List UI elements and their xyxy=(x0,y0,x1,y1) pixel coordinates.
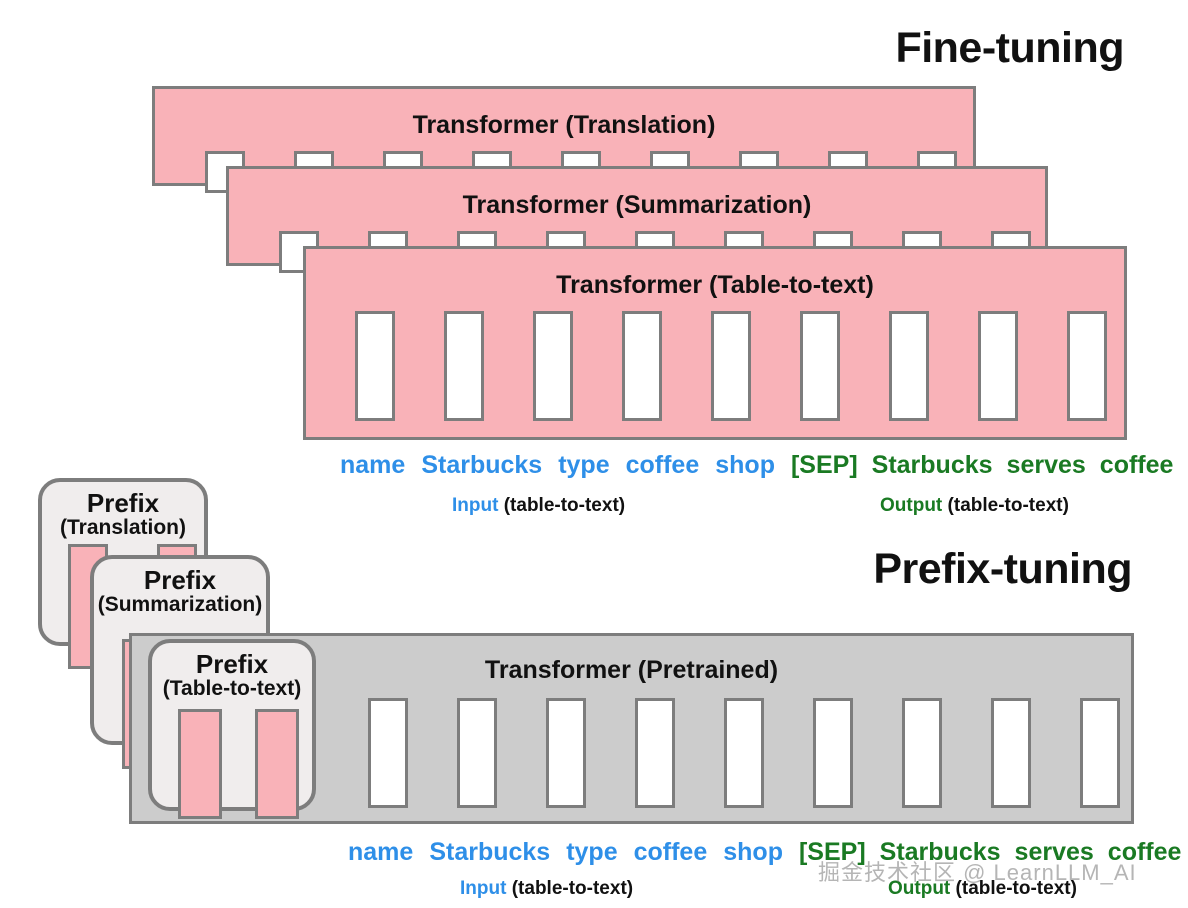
activation-bar-pretrained-8 xyxy=(991,698,1031,808)
output-token-3: serves xyxy=(1015,838,1094,867)
caption-output-top-key: Output xyxy=(880,495,942,516)
transformer-block-table-to-text: Transformer (Table-to-text) xyxy=(303,246,1127,440)
caption-output-fine-tuning: Output (table-to-text) xyxy=(880,495,1069,517)
caption-output-top-detail: (table-to-text) xyxy=(942,495,1069,516)
output-token-1: [SEP] xyxy=(791,451,858,480)
input-token-2: Starbucks xyxy=(429,838,550,867)
activation-bar-pretrained-2 xyxy=(457,698,497,808)
activation-bar-table-to-text-7 xyxy=(889,311,929,421)
output-token-3: serves xyxy=(1007,451,1086,480)
prefix-card-title-table-to-text: Prefix (Table-to-text) xyxy=(152,651,312,700)
prefix-tuning-title: Prefix-tuning xyxy=(873,545,1132,594)
prefix-card-table-to-text: Prefix (Table-to-text) xyxy=(148,639,316,811)
input-token-4: coffee xyxy=(626,451,700,480)
activation-bar-pretrained-4 xyxy=(635,698,675,808)
diagram-canvas: Fine-tuning Transformer (Translation) Tr… xyxy=(0,0,1188,908)
activation-bar-table-to-text-8 xyxy=(978,311,1018,421)
token-row-prefix-tuning: nameStarbuckstypecoffeeshop[SEP]Starbuck… xyxy=(348,838,1181,867)
input-token-3: type xyxy=(566,838,617,867)
prefix-title-sub: (Translation) xyxy=(42,517,204,539)
input-token-4: coffee xyxy=(634,838,708,867)
prefix-title-main: Prefix xyxy=(152,651,312,678)
caption-input-prefix-tuning: Input (table-to-text) xyxy=(460,878,633,900)
caption-output-prefix-tuning: Output (table-to-text) xyxy=(888,878,1077,900)
prefix-bar-table-to-text-2 xyxy=(255,709,299,819)
input-token-1: name xyxy=(348,838,413,867)
input-token-5: shop xyxy=(715,451,775,480)
activation-bar-pretrained-9 xyxy=(1080,698,1120,808)
token-row-fine-tuning: nameStarbuckstypecoffeeshop[SEP]Starbuck… xyxy=(340,451,1173,480)
activation-bar-table-to-text-3 xyxy=(533,311,573,421)
caption-input-bottom-detail: (table-to-text) xyxy=(506,878,633,899)
fine-tuning-title: Fine-tuning xyxy=(895,24,1124,73)
output-token-2: Starbucks xyxy=(872,451,993,480)
caption-input-top-detail: (table-to-text) xyxy=(498,495,625,516)
input-token-1: name xyxy=(340,451,405,480)
output-token-4: coffee xyxy=(1100,451,1174,480)
transformer-label-table-to-text: Transformer (Table-to-text) xyxy=(306,271,1124,300)
caption-input-bottom-key: Input xyxy=(460,878,506,899)
input-token-5: shop xyxy=(723,838,783,867)
activation-bar-table-to-text-9 xyxy=(1067,311,1107,421)
caption-output-bottom-key: Output xyxy=(888,878,950,899)
transformer-label-translation: Transformer (Translation) xyxy=(155,111,973,140)
activation-bar-pretrained-1 xyxy=(368,698,408,808)
input-token-3: type xyxy=(558,451,609,480)
activation-bar-table-to-text-1 xyxy=(355,311,395,421)
activation-bar-table-to-text-4 xyxy=(622,311,662,421)
output-token-1: [SEP] xyxy=(799,838,866,867)
activation-bar-table-to-text-2 xyxy=(444,311,484,421)
prefix-bar-table-to-text-1 xyxy=(178,709,222,819)
activation-bar-pretrained-5 xyxy=(724,698,764,808)
prefix-card-title-summarization: Prefix (Summarization) xyxy=(94,567,266,616)
activation-bar-pretrained-6 xyxy=(813,698,853,808)
prefix-title-sub: (Summarization) xyxy=(94,594,266,616)
caption-input-fine-tuning: Input (table-to-text) xyxy=(452,495,625,517)
prefix-title-main: Prefix xyxy=(42,490,204,517)
output-token-2: Starbucks xyxy=(880,838,1001,867)
input-token-2: Starbucks xyxy=(421,451,542,480)
activation-bar-table-to-text-6 xyxy=(800,311,840,421)
prefix-card-title-translation: Prefix (Translation) xyxy=(42,490,204,539)
transformer-label-summarization: Transformer (Summarization) xyxy=(229,191,1045,220)
output-token-4: coffee xyxy=(1108,838,1182,867)
prefix-title-main: Prefix xyxy=(94,567,266,594)
caption-input-top-key: Input xyxy=(452,495,498,516)
prefix-title-sub: (Table-to-text) xyxy=(152,678,312,700)
caption-output-bottom-detail: (table-to-text) xyxy=(950,878,1077,899)
activation-bar-pretrained-3 xyxy=(546,698,586,808)
activation-bar-pretrained-7 xyxy=(902,698,942,808)
activation-bar-table-to-text-5 xyxy=(711,311,751,421)
